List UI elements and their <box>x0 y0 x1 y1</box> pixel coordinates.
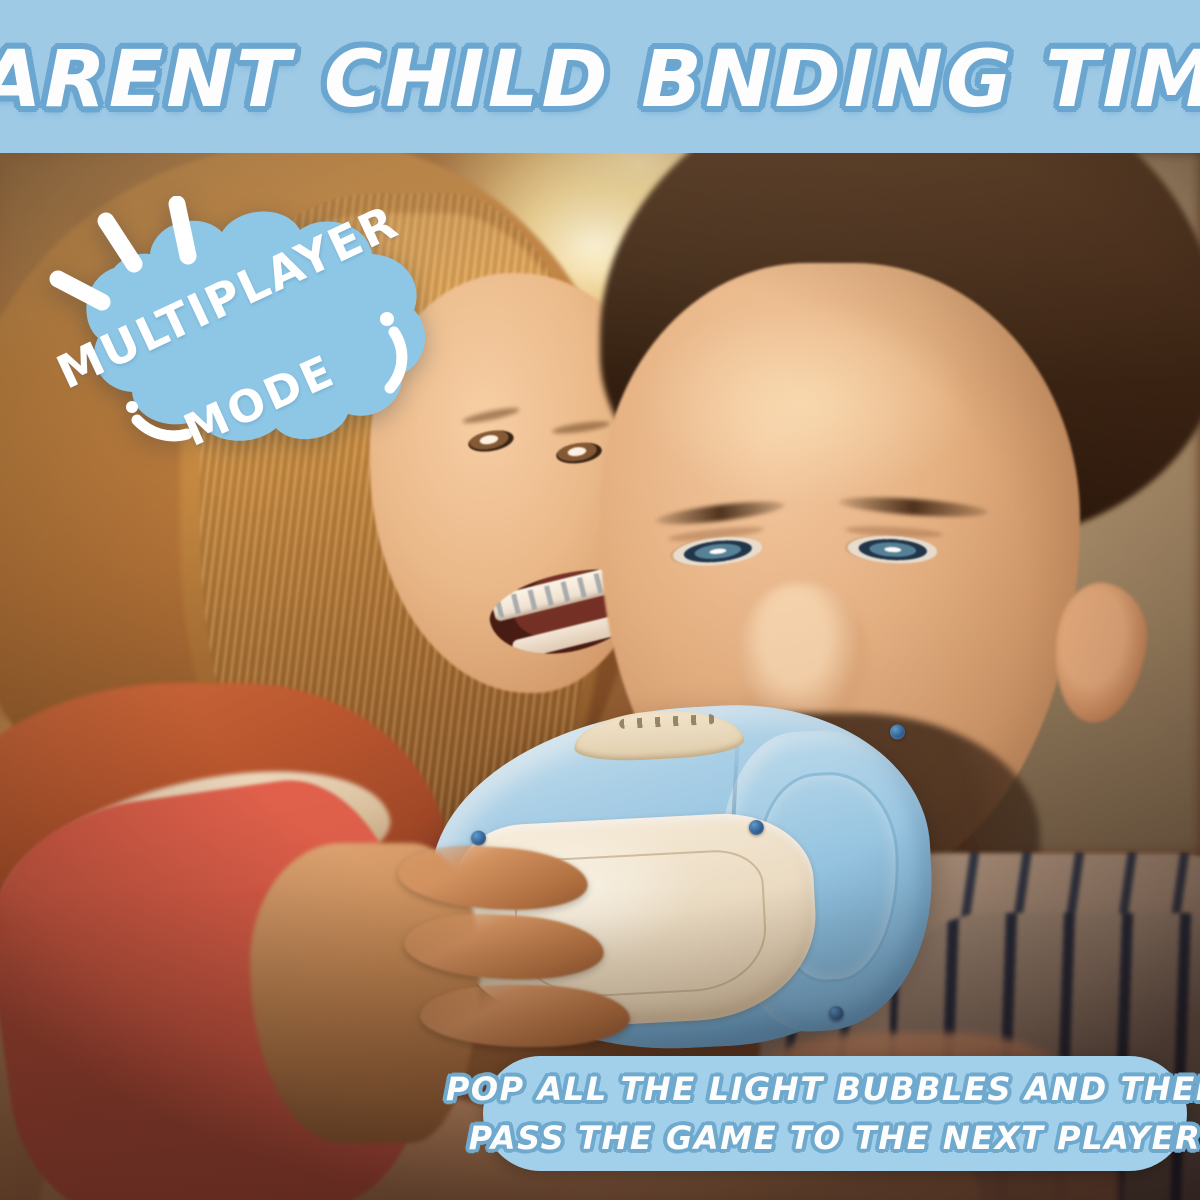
page-title: PARENT CHILD BNDING TIME <box>0 35 1200 125</box>
device-led-4 <box>890 724 906 740</box>
header-banner: PARENT CHILD BNDING TIME <box>0 0 1200 153</box>
multiplayer-mode-badge: MULTIPLAYER MODE <box>42 196 442 466</box>
badge-line-2: MODE <box>177 345 344 457</box>
man-forehead-highlight <box>640 303 970 503</box>
badge-text-group: MULTIPLAYER MODE <box>42 196 442 466</box>
caption-line-1: POP ALL THE LIGHT BUBBLES AND THEN <box>446 1065 1200 1114</box>
instruction-caption-box: POP ALL THE LIGHT BUBBLES AND THEN PASS … <box>483 1056 1187 1171</box>
poster-root: PARENT CHILD BNDING TIME MULTIPLAYER MOD… <box>0 0 1200 1200</box>
caption-line-2: PASS THE GAME TO THE NEXT PLAYER <box>469 1114 1200 1163</box>
badge-line-1: MULTIPLAYER <box>49 194 407 399</box>
